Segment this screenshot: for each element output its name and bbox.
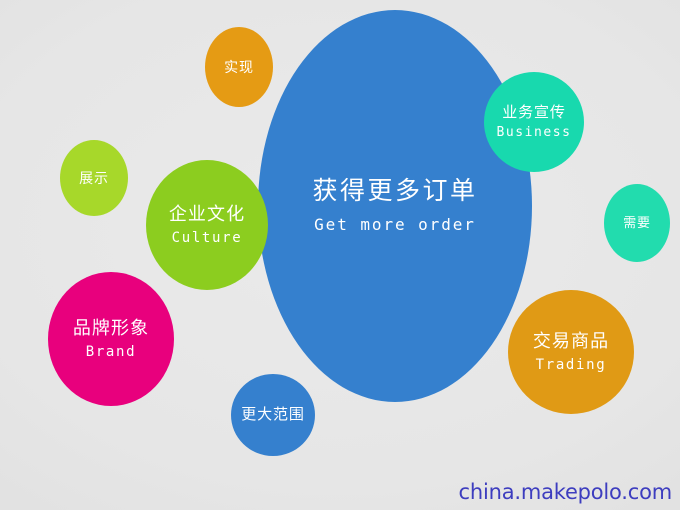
bubble-business[interactable]: 业务宣传 Business — [484, 72, 584, 172]
bubble-need[interactable]: 需要 — [604, 184, 670, 262]
bubble-trading-label-en: Trading — [536, 357, 607, 374]
bubble-trading-label-cn: 交易商品 — [533, 331, 609, 352]
bubble-brand-label-en: Brand — [86, 344, 137, 361]
bubble-get-more-order[interactable]: 获得更多订单 Get more order — [258, 10, 532, 402]
bubble-business-label-cn: 业务宣传 — [502, 104, 566, 122]
bubble-brand-label-cn: 品牌形象 — [73, 318, 149, 339]
watermark-text: china.makepolo.com — [459, 480, 672, 504]
bubble-realize[interactable]: 实现 — [205, 27, 273, 107]
bubble-realize-label-cn: 实现 — [224, 59, 254, 76]
bubble-business-label-en: Business — [496, 125, 571, 140]
bubble-culture-label-cn: 企业文化 — [169, 204, 245, 225]
bubble-need-label-cn: 需要 — [623, 215, 651, 230]
bubble-wider-scope-label-cn: 更大范围 — [241, 406, 305, 424]
bubble-display[interactable]: 展示 — [60, 140, 128, 216]
bubble-culture[interactable]: 企业文化 Culture — [146, 160, 268, 290]
bubble-culture-label-en: Culture — [172, 230, 243, 247]
bubble-diagram-canvas: 实现 展示 需要 更大范围 获得更多订单 Get more order 企业文化… — [0, 0, 680, 510]
bubble-wider-scope[interactable]: 更大范围 — [231, 374, 315, 456]
bubble-display-label-cn: 展示 — [79, 170, 109, 187]
bubble-brand[interactable]: 品牌形象 Brand — [48, 272, 174, 406]
bubble-trading[interactable]: 交易商品 Trading — [508, 290, 634, 414]
bubble-get-more-order-label-en: Get more order — [314, 216, 476, 235]
bubble-get-more-order-label-cn: 获得更多订单 — [312, 177, 477, 207]
